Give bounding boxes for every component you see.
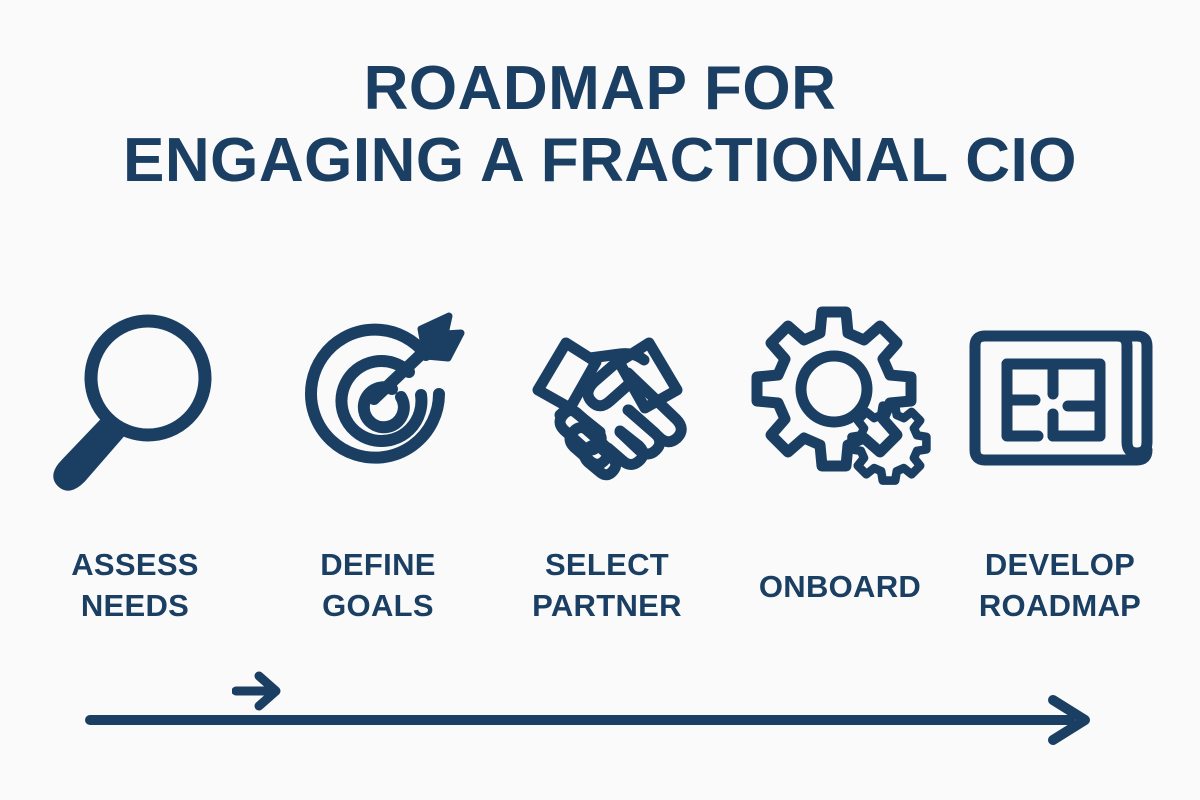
step-label-line-2: GOALS xyxy=(263,586,493,627)
blueprint-icon xyxy=(945,290,1175,505)
target-with-arrow-icon xyxy=(263,290,493,505)
step-label-line-2: PARTNER xyxy=(492,586,722,627)
handshake-icon xyxy=(492,290,722,505)
step-assess-needs: ASSESS NEEDS xyxy=(20,290,250,650)
step-label-assess-needs: ASSESS NEEDS xyxy=(20,545,250,627)
steps-row: ASSESS NEEDS xyxy=(0,290,1200,650)
title-line-2: ENGAGING A FRACTIONAL CIO xyxy=(0,130,1200,192)
step-label-line-1: DEVELOP xyxy=(945,545,1175,586)
step-label-develop-roadmap: DEVELOP ROADMAP xyxy=(945,545,1175,627)
step-label-line-1: ONBOARD xyxy=(725,567,955,608)
step-label-line-2: NEEDS xyxy=(20,586,250,627)
step-select-partner: SELECT PARTNER xyxy=(492,290,722,650)
infographic-canvas: ROADMAP FOR ENGAGING A FRACTIONAL CIO AS… xyxy=(0,0,1200,800)
step-label-line-1: DEFINE xyxy=(263,545,493,586)
page-title: ROADMAP FOR ENGAGING A FRACTIONAL CIO xyxy=(0,58,1200,192)
long-arrow-right-icon xyxy=(85,690,1100,750)
step-develop-roadmap: DEVELOP ROADMAP xyxy=(945,290,1175,650)
step-label-select-partner: SELECT PARTNER xyxy=(492,545,722,627)
magnifying-glass-icon xyxy=(20,290,250,505)
step-define-goals: DEFINE GOALS xyxy=(263,290,493,650)
step-label-line-1: ASSESS xyxy=(20,545,250,586)
step-label-onboard: ONBOARD xyxy=(725,567,955,608)
step-label-define-goals: DEFINE GOALS xyxy=(263,545,493,627)
title-line-1: ROADMAP FOR xyxy=(0,58,1200,120)
gears-icon xyxy=(725,290,955,505)
step-label-line-2: ROADMAP xyxy=(945,586,1175,627)
step-onboard: ONBOARD xyxy=(725,290,955,650)
step-label-line-1: SELECT xyxy=(492,545,722,586)
